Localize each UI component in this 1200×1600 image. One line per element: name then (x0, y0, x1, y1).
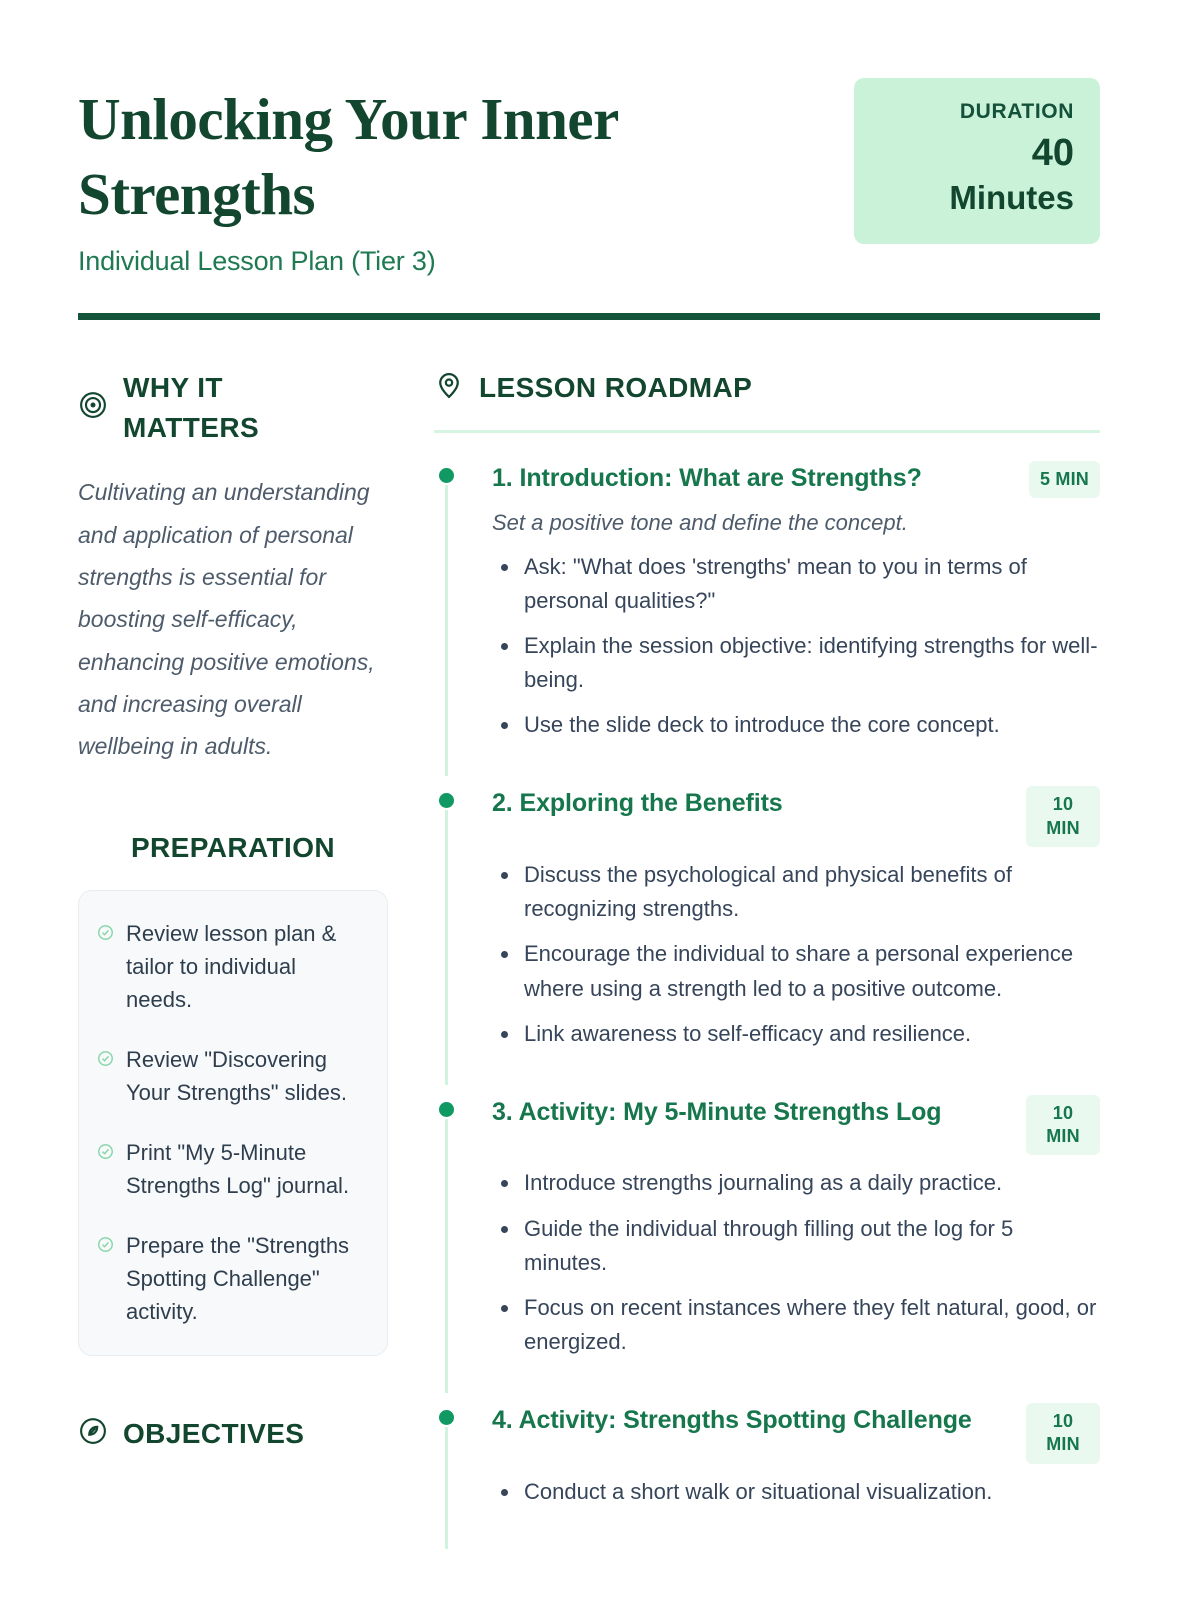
step-header: 1. Introduction: What are Strengths? 5 M… (492, 459, 1100, 498)
step-title: 4. Activity: Strengths Spotting Challeng… (492, 1401, 1008, 1439)
timeline-line (445, 810, 448, 1084)
objectives-header: OBJECTIVES (78, 1414, 388, 1454)
duration-unit: Minutes (880, 178, 1074, 218)
check-circle-icon (97, 924, 114, 946)
step-header: 3. Activity: My 5-Minute Strengths Log 1… (492, 1093, 1100, 1156)
page-title: Unlocking Your Inner Strengths (78, 82, 678, 232)
step-title: 1. Introduction: What are Strengths? (492, 459, 1011, 497)
list-item: Encourage the individual to share a pers… (492, 937, 1100, 1005)
duration-value: 40 (880, 128, 1074, 178)
check-circle-icon (97, 1236, 114, 1258)
roadmap-step: 1. Introduction: What are Strengths? 5 M… (434, 459, 1100, 785)
check-circle-icon (97, 1050, 114, 1072)
duration-badge: DURATION 40 Minutes (854, 78, 1100, 244)
preparation-box: Review lesson plan & tailor to individua… (78, 890, 388, 1356)
roadmap-steps: 1. Introduction: What are Strengths? 5 M… (434, 459, 1100, 1509)
duration-label: DURATION (880, 100, 1074, 124)
step-title: 3. Activity: My 5-Minute Strengths Log (492, 1093, 1008, 1131)
preparation-item-text: Review "Discovering Your Strengths" slid… (126, 1043, 367, 1110)
leaf-circle-icon (78, 1416, 108, 1451)
objectives-title: OBJECTIVES (123, 1414, 303, 1454)
page-subtitle: Individual Lesson Plan (Tier 3) (78, 246, 814, 277)
step-duration-badge: 10 MIN (1026, 1403, 1100, 1464)
list-item: Prepare the "Strengths Spotting Challeng… (97, 1229, 367, 1329)
list-item: Review "Discovering Your Strengths" slid… (97, 1043, 367, 1110)
target-icon (78, 390, 108, 425)
step-duration-badge: 10 MIN (1026, 786, 1100, 847)
roadmap-header: LESSON ROADMAP (434, 368, 1100, 408)
list-item: Conduct a short walk or situational visu… (492, 1475, 1100, 1509)
header-divider (78, 313, 1100, 320)
map-pin-icon (434, 370, 464, 405)
roadmap-step: 2. Exploring the Benefits 10 MIN Discuss… (434, 784, 1100, 1092)
step-header: 4. Activity: Strengths Spotting Challeng… (492, 1401, 1100, 1464)
why-it-matters-title: WHY IT MATTERS (123, 368, 303, 448)
list-item: Use the slide deck to introduce the core… (492, 708, 1100, 742)
list-item: Guide the individual through filling out… (492, 1212, 1100, 1280)
preparation-item-text: Prepare the "Strengths Spotting Challeng… (126, 1229, 367, 1329)
sidebar: WHY IT MATTERS Cultivating an understand… (78, 368, 388, 1509)
roadmap-step: 3. Activity: My 5-Minute Strengths Log 1… (434, 1093, 1100, 1401)
document-header: Unlocking Your Inner Strengths Individua… (78, 78, 1100, 277)
preparation-title: PREPARATION (78, 832, 388, 864)
step-bullet-list: Conduct a short walk or situational visu… (492, 1475, 1100, 1509)
list-item: Explain the session objective: identifyi… (492, 629, 1100, 697)
why-it-matters-text: Cultivating an understanding and applica… (78, 471, 388, 767)
content-area: WHY IT MATTERS Cultivating an understand… (78, 368, 1100, 1509)
list-item: Ask: "What does 'strengths' mean to you … (492, 550, 1100, 618)
step-duration-badge: 10 MIN (1026, 1095, 1100, 1156)
step-duration-badge: 5 MIN (1029, 461, 1100, 498)
why-it-matters-header: WHY IT MATTERS (78, 368, 388, 448)
lesson-roadmap: LESSON ROADMAP 1. Introduction: What are… (434, 368, 1100, 1509)
timeline-dot-icon (439, 1410, 454, 1425)
step-bullet-list: Introduce strengths journaling as a dail… (492, 1166, 1100, 1358)
list-item: Link awareness to self-efficacy and resi… (492, 1017, 1100, 1051)
timeline-line (445, 1119, 448, 1393)
list-item: Print "My 5-Minute Strengths Log" journa… (97, 1136, 367, 1203)
step-title: 2. Exploring the Benefits (492, 784, 1008, 822)
list-item: Focus on recent instances where they fel… (492, 1291, 1100, 1359)
step-bullet-list: Ask: "What does 'strengths' mean to you … (492, 550, 1100, 742)
list-item: Review lesson plan & tailor to individua… (97, 917, 367, 1017)
timeline-line (445, 1427, 448, 1549)
list-item: Introduce strengths journaling as a dail… (492, 1166, 1100, 1200)
step-bullet-list: Discuss the psychological and physical b… (492, 858, 1100, 1050)
timeline-dot-icon (439, 793, 454, 808)
roadmap-step: 4. Activity: Strengths Spotting Challeng… (434, 1401, 1100, 1509)
timeline-line (445, 485, 448, 777)
roadmap-divider (434, 430, 1100, 433)
timeline-dot-icon (439, 1102, 454, 1117)
step-header: 2. Exploring the Benefits 10 MIN (492, 784, 1100, 847)
roadmap-title: LESSON ROADMAP (479, 368, 752, 408)
preparation-item-text: Review lesson plan & tailor to individua… (126, 917, 367, 1017)
header-title-block: Unlocking Your Inner Strengths Individua… (78, 78, 814, 277)
list-item: Discuss the psychological and physical b… (492, 858, 1100, 926)
lesson-plan-page: Unlocking Your Inner Strengths Individua… (0, 0, 1200, 1600)
check-circle-icon (97, 1143, 114, 1165)
step-note: Set a positive tone and define the conce… (492, 506, 1100, 539)
timeline-dot-icon (439, 468, 454, 483)
preparation-item-text: Print "My 5-Minute Strengths Log" journa… (126, 1136, 367, 1203)
